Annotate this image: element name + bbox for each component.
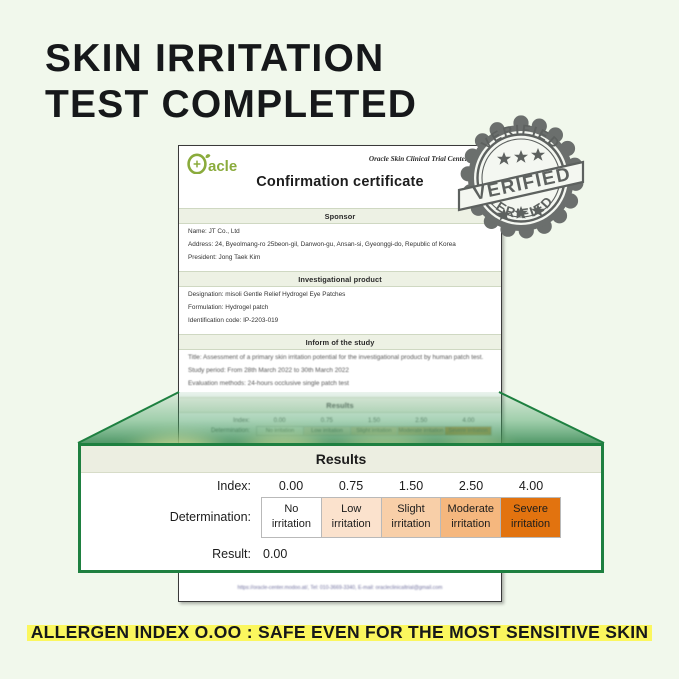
cell-line-1: Moderate	[441, 502, 500, 517]
study-title: Title: Assessment of a primary skin irri…	[188, 354, 492, 362]
section-body-sponsor: Name: JT Co., Ltd Address: 24, Byeolmang…	[179, 224, 501, 271]
cell-line-2: irritation	[322, 517, 381, 532]
headline-line-2: TEST COMPLETED	[45, 82, 515, 128]
sponsor-name: Name: JT Co., Ltd	[188, 228, 492, 236]
mini-index-value: 0.75	[303, 417, 350, 424]
mini-index-value: 1.50	[350, 417, 397, 424]
callout-index-row: Index: 0.00 0.75 1.50 2.50 4.00	[81, 479, 601, 493]
cell-line-2: irritation	[501, 517, 560, 532]
callout-index-label: Index:	[81, 479, 261, 493]
document-header: acle Oracle Skin Clinical Trial Center C…	[179, 146, 501, 208]
mini-determination-label: Determination:	[188, 426, 256, 436]
sponsor-address: Address: 24, Byeolmang-ro 25beon-gil, Da…	[188, 241, 492, 249]
cell-line-2: irritation	[382, 517, 441, 532]
callout-determination-row: Determination: No irritation Low irritat…	[81, 497, 601, 538]
mini-determination-cell: Moderate irritation	[397, 426, 444, 436]
cell-line-1: Severe	[501, 502, 560, 517]
callout-determination-label: Determination:	[81, 510, 261, 524]
section-heading-sponsor: Sponsor	[179, 208, 501, 224]
verified-stamp: VERIFIED VERIFIED VERIFIED	[455, 115, 587, 241]
headline-line-1: SKIN IRRITATION	[45, 36, 515, 82]
determination-cell-low-irritation: Low irritation	[321, 497, 381, 538]
mini-determination-cell: Slight irritation	[350, 426, 397, 436]
product-identification-code: Identification code: IP-2203-019	[188, 317, 492, 325]
svg-text:acle: acle	[208, 158, 237, 174]
poster-canvas: SKIN IRRITATION TEST COMPLETED acle Orac…	[0, 0, 679, 679]
section-heading-results: Results	[179, 397, 501, 413]
document-title: Confirmation certificate	[179, 174, 501, 190]
allergen-banner: ALLERGEN INDEX O.OO : SAFE EVEN FOR THE …	[0, 617, 679, 647]
results-callout: Results Index: 0.00 0.75 1.50 2.50 4.00 …	[78, 443, 604, 573]
oracle-logo: acle	[187, 151, 249, 175]
section-heading-study: Inform of the study	[179, 334, 501, 350]
callout-heading: Results	[81, 446, 601, 473]
mini-index-label: Index:	[188, 417, 256, 424]
mini-index-row: Index: 0.00 0.75 1.50 2.50 4.00	[188, 417, 492, 424]
section-heading-product: Investigational product	[179, 271, 501, 287]
section-body-study: Title: Assessment of a primary skin irri…	[179, 350, 501, 397]
cell-line-1: Slight	[382, 502, 441, 517]
mini-index-value: 2.50	[398, 417, 445, 424]
determination-cell-no-irritation: No irritation	[261, 497, 321, 538]
callout-result-row: Result: 0.00	[81, 547, 601, 561]
determination-cell-moderate-irritation: Moderate irritation	[440, 497, 500, 538]
cell-line-2: irritation	[262, 517, 321, 532]
page-title: SKIN IRRITATION TEST COMPLETED	[45, 36, 515, 128]
callout-index-value: 0.00	[261, 479, 321, 493]
callout-result-value: 0.00	[261, 547, 287, 561]
banner-text: ALLERGEN INDEX O.OO : SAFE EVEN FOR THE …	[31, 622, 649, 642]
callout-index-value: 4.00	[501, 479, 561, 493]
mini-determination-cell: Severe irritation	[444, 426, 492, 436]
cell-line-1: Low	[322, 502, 381, 517]
mini-determination-row: Determination: No irritation Low irritat…	[188, 426, 492, 436]
cell-line-2: irritation	[441, 517, 500, 532]
mini-index-value: 0.00	[256, 417, 303, 424]
sponsor-president: President: Jong Taek Kim	[188, 254, 492, 262]
cell-line-1: No	[262, 502, 321, 517]
determination-cell-severe-irritation: Severe irritation	[500, 497, 561, 538]
product-designation: Designation: misoli Gentle Relief Hydrog…	[188, 291, 492, 299]
callout-definition-value: No irritation	[261, 570, 327, 573]
document-footer: https://oracle-center.modoo.at/, Tel: 01…	[179, 585, 501, 591]
callout-index-value: 1.50	[381, 479, 441, 493]
mini-determination-cell: No irritation	[256, 426, 303, 436]
mini-index-value: 4.00	[445, 417, 492, 424]
callout-result-label: Result:	[81, 547, 261, 561]
callout-index-value: 0.75	[321, 479, 381, 493]
study-period: Study period: From 28th March 2022 to 30…	[188, 367, 492, 375]
callout-definition-row: Definition: No irritation	[81, 570, 601, 573]
mini-determination-cell: Low irritation	[303, 426, 350, 436]
callout-index-value: 2.50	[441, 479, 501, 493]
section-body-product: Designation: misoli Gentle Relief Hydrog…	[179, 287, 501, 334]
product-formulation: Formulation: Hydrogel patch	[188, 304, 492, 312]
mini-results-table: Index: 0.00 0.75 1.50 2.50 4.00 Determin…	[179, 417, 501, 436]
study-evaluation-methods: Evaluation methods: 24-hours occlusive s…	[188, 380, 492, 388]
determination-cell-slight-irritation: Slight irritation	[381, 497, 441, 538]
callout-definition-label: Definition:	[81, 570, 261, 573]
